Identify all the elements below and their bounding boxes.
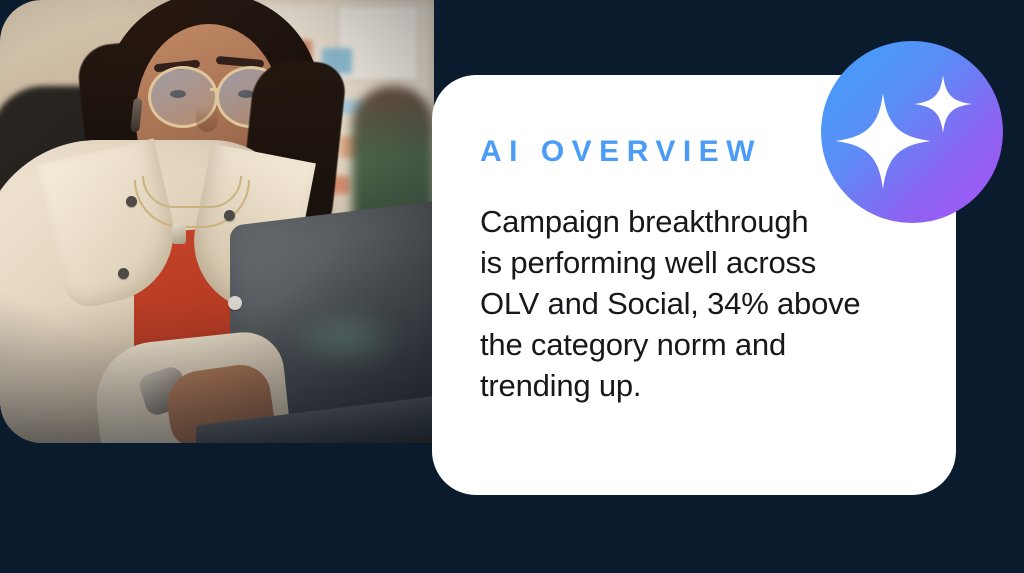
photo-scene [0, 0, 434, 443]
ai-sparkle-icon [821, 41, 1003, 223]
ai-overview-screenshot: AI OVERVIEW Campaign breakthrough is per… [0, 0, 1024, 573]
ai-overview-body-line: the category norm and [480, 324, 916, 365]
photo-vignette [0, 0, 434, 443]
woman-working-on-laptop-photo [0, 0, 434, 443]
ai-overview-body-line: trending up. [480, 365, 916, 406]
ai-overview-body-line: is performing well across [480, 242, 916, 283]
ai-sparkle-badge [821, 41, 1003, 223]
ai-overview-body-line: OLV and Social, 34% above [480, 283, 916, 324]
ai-overview-body: Campaign breakthrough is performing well… [480, 201, 916, 406]
